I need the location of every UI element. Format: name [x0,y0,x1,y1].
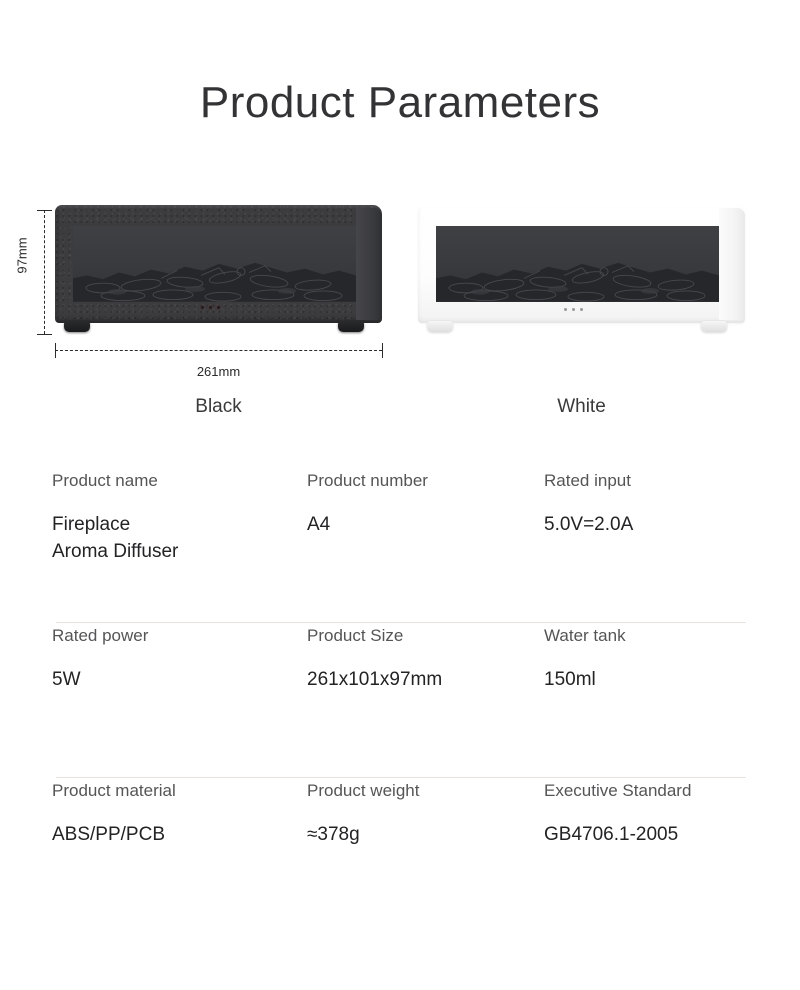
white-unit-foot-left [427,321,453,332]
product-image-white[interactable] [418,205,745,335]
product-parameters-page: Product Parameters 97mm 261mm [0,0,800,990]
indicator-dot [201,306,204,309]
white-unit-control-indicators[interactable] [564,308,583,311]
indicator-dot [572,308,575,311]
height-dimension-line [44,210,45,334]
spec-value: ≈378g [307,822,539,849]
spec-label: Product weight [307,780,539,802]
width-dimension-cap-right [382,343,383,358]
spec-cell-rated-input: Rated input 5.0V=2.0A [544,470,784,539]
white-unit-foot-right [701,321,727,332]
spec-value: ABS/PP/PCB [52,822,302,849]
spec-cell-rated-power: Rated power 5W [52,625,302,694]
spec-value: Fireplace Aroma Diffuser [52,512,302,566]
black-unit-log-graphic [73,259,356,302]
spec-cell-product-weight: Product weight ≈378g [307,780,539,849]
color-label-white: White [418,396,745,418]
spec-value: A4 [307,512,539,539]
indicator-dot [580,308,583,311]
spec-label: Water tank [544,625,784,647]
row-divider [56,777,746,778]
spec-label: Rated input [544,470,784,492]
row-divider [56,622,746,623]
table-row: Product material ABS/PP/PCB Product weig… [0,780,800,900]
spec-label: Product Size [307,625,539,647]
product-showcase: 97mm 261mm [0,0,800,440]
spec-cell-water-tank: Water tank 150ml [544,625,784,694]
white-unit-window [436,226,719,302]
black-unit-control-indicators[interactable] [201,306,220,309]
specifications-table: Product name Fireplace Aroma Diffuser Pr… [0,470,800,900]
spec-label: Executive Standard [544,780,784,802]
black-unit-foot-left [64,321,90,332]
spec-value: 261x101x97mm [307,667,539,694]
spec-label: Product number [307,470,539,492]
spec-value: 5.0V=2.0A [544,512,784,539]
spec-cell-product-number: Product number A4 [307,470,539,539]
height-dimension-label: 97mm [15,237,30,273]
spec-label: Rated power [52,625,302,647]
indicator-dot [209,306,212,309]
color-label-black: Black [55,396,382,418]
width-dimension-label: 261mm [55,364,382,379]
table-row: Product name Fireplace Aroma Diffuser Pr… [0,470,800,625]
spec-value: GB4706.1-2005 [544,822,784,849]
spec-cell-product-size: Product Size 261x101x97mm [307,625,539,694]
white-unit-side-panel [719,208,745,320]
spec-label: Product name [52,470,302,492]
black-unit-foot-right [338,321,364,332]
indicator-dot [564,308,567,311]
white-unit-log-graphic [436,259,719,302]
table-row: Rated power 5W Product Size 261x101x97mm… [0,625,800,780]
spec-value: 5W [52,667,302,694]
width-dimension-line [55,350,382,351]
height-dimension-cap-bottom [37,334,52,335]
black-unit-side-panel [356,208,382,320]
black-unit-window [73,226,356,302]
spec-value: 150ml [544,667,784,694]
product-image-black[interactable] [55,205,382,335]
spec-cell-product-name: Product name Fireplace Aroma Diffuser [52,470,302,566]
spec-label: Product material [52,780,302,802]
indicator-dot [217,306,220,309]
spec-cell-executive-standard: Executive Standard GB4706.1-2005 [544,780,784,849]
spec-cell-product-material: Product material ABS/PP/PCB [52,780,302,849]
